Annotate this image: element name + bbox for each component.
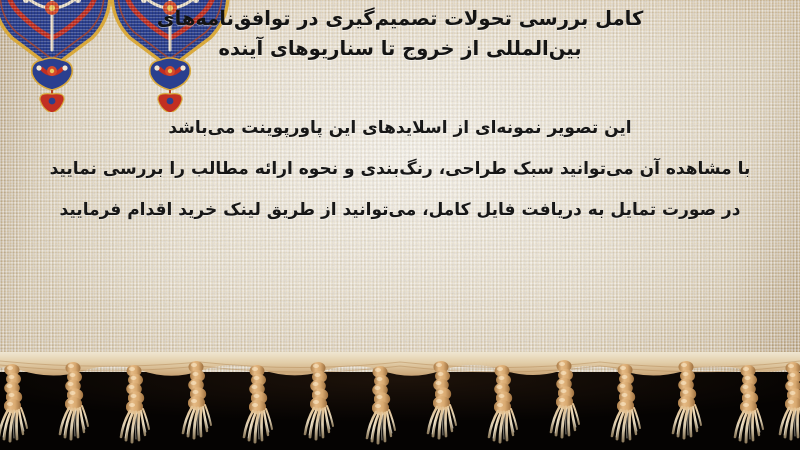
slide-title: کامل بررسی تحولات تصمیم‌گیری در توافق‌نا… [0, 4, 800, 64]
tassel-item [673, 361, 701, 438]
tassel-row [0, 360, 800, 450]
body-line-3: در صورت تمایل به دریافت فایل کامل، می‌تو… [0, 190, 800, 231]
body-line-1: این تصویر نمونه‌ای از اسلایدهای این پاور… [0, 108, 800, 149]
tassel-item [612, 364, 640, 441]
tassel-item [551, 360, 579, 437]
tassel-item [244, 365, 272, 442]
body-line-2: با مشاهده آن می‌توانید سبک طراحی، رنگ‌بن… [0, 149, 800, 190]
medallion-pendant [150, 58, 191, 112]
tassel-item [60, 362, 88, 439]
tassel-item [367, 366, 395, 443]
title-line-1: کامل بررسی تحولات تصمیم‌گیری در توافق‌نا… [0, 4, 800, 34]
tassel-item [428, 361, 456, 438]
tassel-item [489, 365, 517, 442]
tassel-item [0, 364, 27, 441]
tassel-item [780, 362, 800, 439]
slide-body: این تصویر نمونه‌ای از اسلایدهای این پاور… [0, 108, 800, 231]
medallion-pendant [32, 58, 73, 112]
title-line-2: بین‌المللی از خروج تا سناریوهای آینده [0, 34, 800, 64]
slide-canvas: کامل بررسی تحولات تصمیم‌گیری در توافق‌نا… [0, 0, 800, 450]
tassel-item [735, 365, 763, 442]
carpet-fringe-tassels [0, 352, 800, 450]
tassel-item [121, 365, 149, 442]
tassel-item [183, 361, 211, 438]
tassel-item [305, 362, 333, 439]
